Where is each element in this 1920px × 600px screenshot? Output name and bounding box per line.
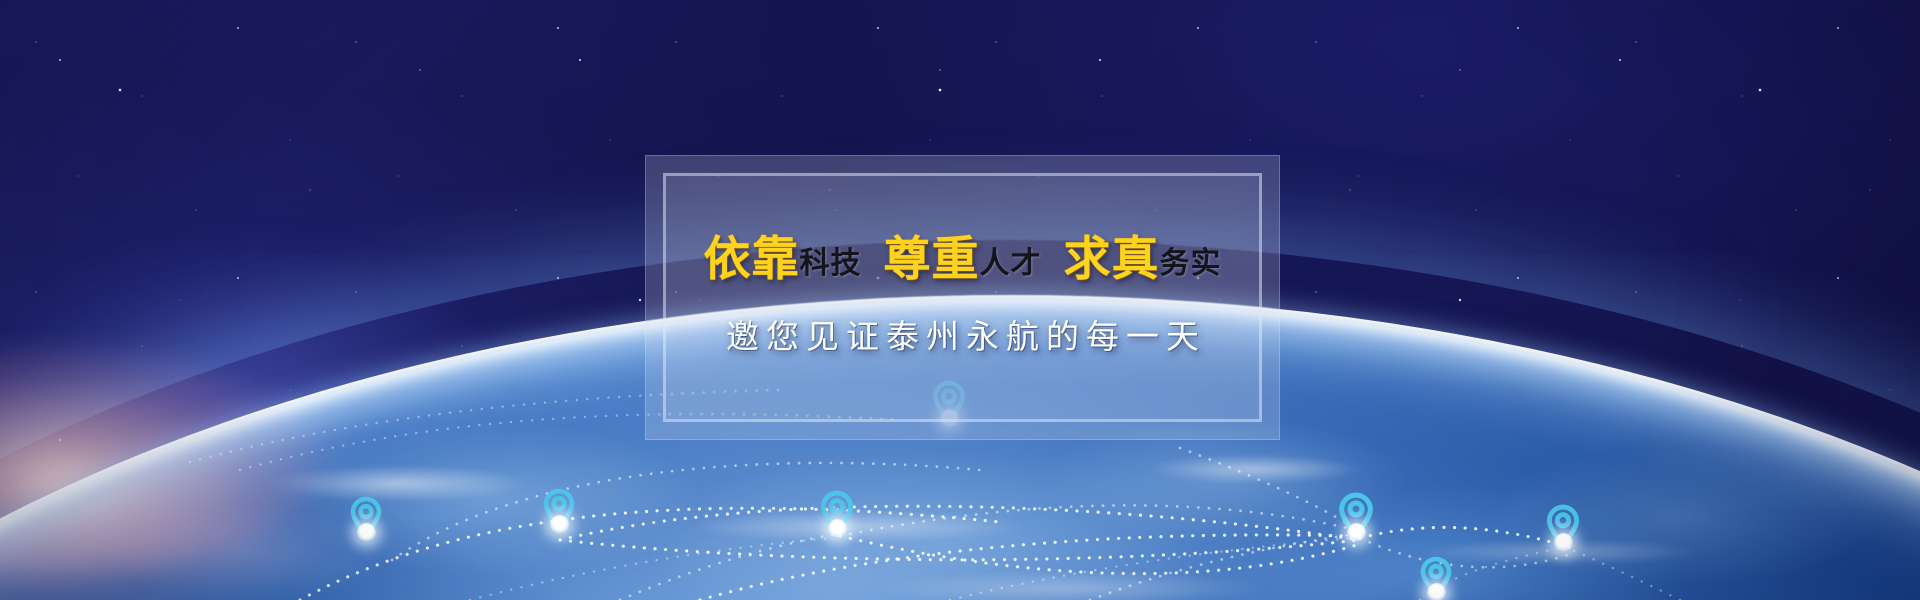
hero-banner: 依靠 科技 尊重 人才 求真 务实 邀您见证泰州永航的每一天 xyxy=(0,0,1920,600)
slogan-secondary: 邀您见证泰州永航的每一天 xyxy=(719,310,1206,358)
slogan-panel: 依靠 科技 尊重 人才 求真 务实 邀您见证泰州永航的每一天 xyxy=(645,155,1280,440)
slogan-main: 依靠 科技 尊重 人才 求真 务实 xyxy=(704,237,1222,284)
slogan-seg-3: 尊重 xyxy=(884,237,980,284)
slogan-seg-4: 人才 xyxy=(980,249,1042,279)
slogan-seg-1: 依靠 xyxy=(704,237,800,284)
slogan-panel-content: 依靠 科技 尊重 人才 求真 务实 邀您见证泰州永航的每一天 xyxy=(646,156,1279,439)
slogan-seg-2: 科技 xyxy=(800,249,862,279)
slogan-seg-6: 务实 xyxy=(1160,249,1222,279)
slogan-seg-5: 求真 xyxy=(1064,237,1160,284)
